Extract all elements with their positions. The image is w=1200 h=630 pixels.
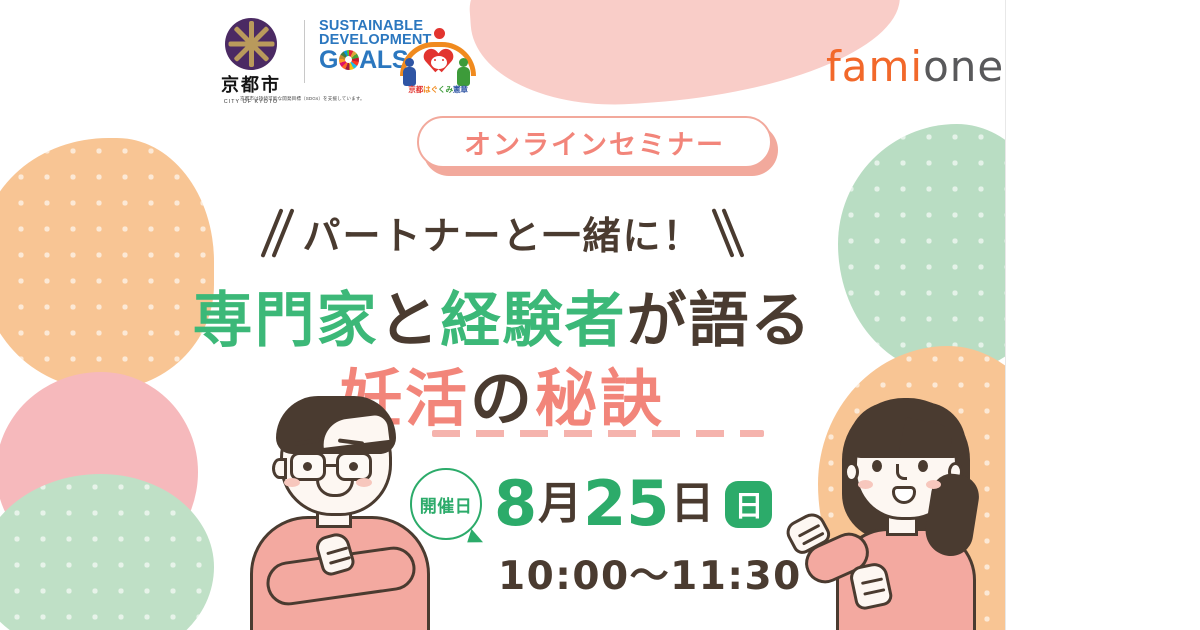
heart-face-icon — [425, 46, 453, 74]
famione-fami: fami — [826, 42, 923, 91]
event-month-number: 8 — [494, 473, 537, 535]
event-day-number: 25 — [583, 473, 669, 535]
right-slashes-icon — [721, 207, 735, 259]
online-seminar-badge: オンラインセミナー — [417, 116, 772, 168]
red-dot-icon — [434, 28, 445, 39]
hagukumi-caption: 京都はぐくみ憲章 — [392, 84, 484, 95]
event-date-row: 開催日 8 月 25 日 日 — [410, 468, 772, 540]
famione-one: one — [923, 42, 1004, 91]
sdg-goals-g: G — [319, 48, 338, 72]
title2-seg2: の — [470, 362, 535, 435]
illustration-woman — [800, 388, 1000, 630]
hagukumi-caption-1: 京都 — [408, 85, 423, 94]
date-label-text: 開催日 — [420, 492, 473, 517]
logo-divider — [304, 20, 305, 83]
kyoto-sdg-note: 京都市は持続可能な開発目標（SDGs）を支援しています。 — [240, 96, 365, 102]
kyoto-city-logo: 京都市 CITY OF KYOTO — [212, 18, 290, 105]
hagukumi-caption-4: 憲章 — [453, 85, 468, 94]
kyoto-city-name-ja: 京都市 — [221, 71, 281, 97]
event-month-unit: 月 — [538, 482, 582, 526]
illustration-man — [232, 386, 442, 630]
title1-seg2: と — [379, 286, 441, 356]
sdg-colour-wheel-icon — [339, 50, 359, 70]
hagukumi-caption-2: はぐ — [423, 85, 438, 94]
event-day-unit: 日 — [670, 482, 714, 526]
title2-seg3: 秘訣 — [535, 362, 665, 435]
dashed-divider — [432, 430, 764, 437]
canvas-edge-line — [1005, 0, 1006, 630]
famione-logo: famione — [826, 42, 1004, 91]
kyoto-crest-icon — [225, 18, 277, 70]
hagukumi-caption-3: くみ — [438, 85, 453, 94]
event-date-value: 8 月 25 日 日 — [494, 473, 772, 535]
kicker-text: パートナーと一緒に！ — [302, 205, 702, 260]
headline-line-1: 専門家と経験者が語る — [0, 272, 1005, 359]
headline-kicker: パートナーと一緒に！ — [0, 205, 1005, 260]
poster-root: 京都市 CITY OF KYOTO SUSTAINABLE DEVELOPMEN… — [0, 0, 1200, 630]
title1-seg3: 経験者 — [441, 286, 627, 356]
kyoto-hagukumi-charter-logo: 京都はぐくみ憲章 — [392, 24, 484, 98]
left-slashes-icon — [270, 207, 284, 259]
badge-label: オンラインセミナー — [464, 123, 725, 162]
event-weekday-chip: 日 — [725, 481, 772, 528]
title1-seg1: 専門家 — [193, 286, 379, 356]
flyer-canvas: 京都市 CITY OF KYOTO SUSTAINABLE DEVELOPMEN… — [0, 0, 1005, 630]
event-time: 10:00〜11:30 — [498, 545, 802, 601]
badge-pill: オンラインセミナー — [417, 116, 772, 168]
title1-seg4: が語る — [627, 286, 813, 356]
